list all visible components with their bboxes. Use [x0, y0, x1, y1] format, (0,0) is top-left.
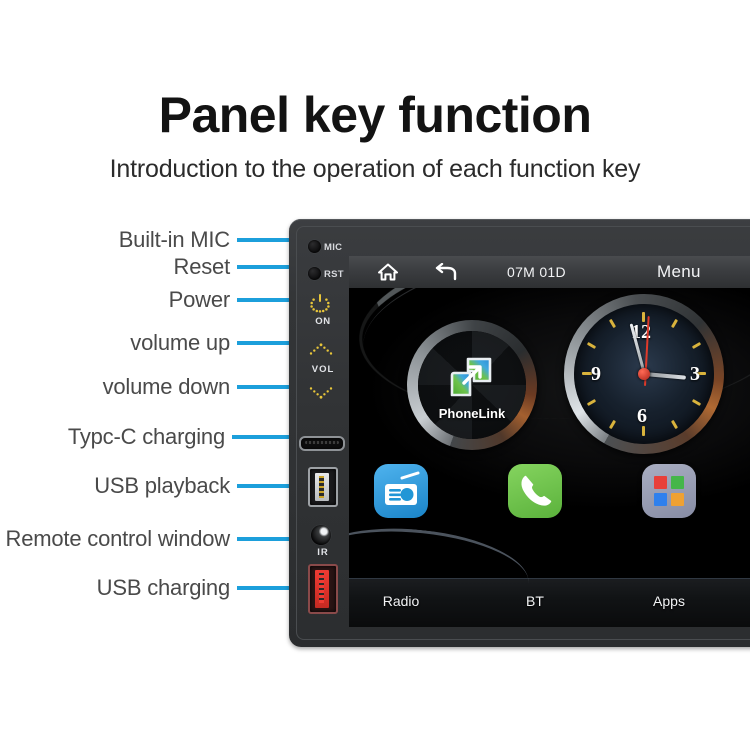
clock-hour-hand [644, 372, 686, 380]
back-arrow-icon[interactable] [433, 263, 459, 288]
touchscreen-display[interactable]: 07M 01D Menu [349, 256, 750, 627]
page-subtitle: Introduction to the operation of each fu… [0, 155, 750, 184]
device-front-panel: MIC RST [296, 226, 750, 640]
callout-label: Power [169, 285, 230, 315]
phonelink-widget[interactable]: PhoneLink [407, 320, 537, 450]
clock-numeral: 6 [637, 405, 647, 428]
usb-charging-port-icon[interactable] [308, 564, 338, 614]
usb-pins [319, 476, 324, 498]
leader-line-remote-control-window [237, 537, 295, 541]
page-root: Panel key function Introduction to the o… [0, 0, 750, 750]
car-stereo-device: MIC RST [289, 219, 750, 647]
status-date: 07M 01D [507, 256, 566, 288]
clock-tick [671, 420, 678, 429]
callout-label: USB charging [97, 573, 230, 603]
callout-label: Reset [174, 252, 230, 282]
reset-icon[interactable] [308, 267, 321, 280]
clock-tick [609, 420, 616, 429]
clock-tick [692, 399, 701, 406]
callout-label: Remote control window [6, 524, 230, 554]
apps-app-icon[interactable] [642, 464, 696, 518]
clock-numeral: 9 [591, 363, 601, 386]
microphone-icon [308, 240, 321, 253]
apps-grid-icon [642, 464, 696, 518]
bt-app-icon[interactable] [508, 464, 562, 518]
clock-tick [587, 342, 596, 349]
home-screen-wallpaper: PhoneLink [349, 288, 750, 627]
power-label: ON [297, 316, 349, 327]
clock-tick [692, 342, 701, 349]
clock-center-cap [638, 368, 650, 380]
radio-app-icon[interactable] [374, 464, 428, 518]
callout-label: volume down [103, 372, 230, 402]
leader-line-volume-down [237, 385, 295, 389]
volume-down-icon[interactable] [308, 385, 336, 401]
usb-c-port-icon[interactable] [299, 436, 345, 451]
power-icon[interactable] [307, 291, 333, 315]
leader-line-built-in-mic [237, 238, 295, 242]
clock-tick [587, 399, 596, 406]
clock-tick [609, 319, 616, 328]
app-dock: Radio BT Apps [349, 578, 750, 627]
ir-label: IR [297, 547, 349, 558]
clock-numeral: 3 [690, 363, 700, 386]
microphone-label: MIC [324, 242, 342, 253]
left-bezel-controls: MIC RST [297, 227, 349, 641]
home-icon[interactable] [377, 262, 399, 287]
callout-label: USB playback [94, 471, 230, 501]
phonelink-label: PhoneLink [407, 406, 537, 421]
volume-up-icon[interactable] [308, 341, 336, 357]
callout-reset: Reset [0, 252, 230, 282]
ir-receiver-icon [311, 525, 331, 545]
menu-button[interactable]: Menu [657, 256, 701, 288]
phone-handset-icon [508, 464, 562, 518]
callout-type-c-charging: Typc-C charging [0, 422, 225, 452]
callout-volume-down: volume down [0, 372, 230, 402]
clock-tick [671, 319, 678, 328]
clock-face: 12 3 6 9 [574, 304, 714, 444]
callout-label: Typc-C charging [68, 422, 225, 452]
bt-app-label: BT [495, 593, 575, 609]
clock-widget[interactable]: 12 3 6 9 [564, 294, 724, 454]
callout-usb-playback: USB playback [0, 471, 230, 501]
leader-line-power [237, 298, 295, 302]
callout-usb-charging: USB charging [0, 573, 230, 603]
volume-label: VOL [297, 364, 349, 375]
callout-power: Power [0, 285, 230, 315]
page-title: Panel key function [0, 86, 750, 144]
usb-a-port-icon[interactable] [308, 467, 338, 507]
leader-line-usb-playback [237, 484, 295, 488]
callout-volume-up: volume up [0, 328, 230, 358]
callout-remote-control-window: Remote control window [0, 524, 230, 554]
callout-label: volume up [130, 328, 230, 358]
screen-share-arrow-icon [448, 353, 496, 406]
radio-icon [374, 464, 428, 518]
leader-line-volume-up [237, 341, 295, 345]
leader-line-usb-charging [237, 586, 295, 590]
apps-app-label: Apps [629, 593, 709, 609]
leader-line-reset [237, 265, 295, 269]
reset-label: RST [324, 269, 344, 280]
usb-pins [319, 573, 324, 603]
callout-built-in-mic: Built-in MIC [0, 225, 230, 255]
callout-label: Built-in MIC [119, 225, 230, 255]
radio-app-label: Radio [361, 593, 441, 609]
status-bar: 07M 01D Menu [349, 256, 750, 289]
